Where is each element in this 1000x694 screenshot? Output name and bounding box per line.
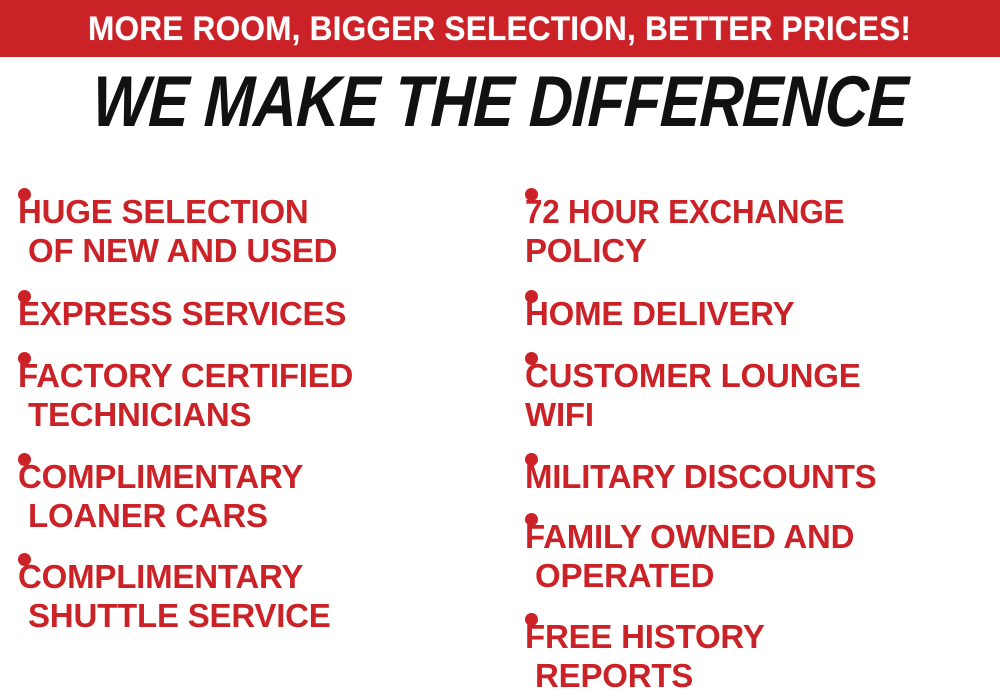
list-item-line: EXPRESS SERVICES xyxy=(18,294,346,333)
list-item-line: LOANER CARS xyxy=(18,496,303,535)
list-item-lines: MILITARY DISCOUNTS xyxy=(525,457,876,496)
bullet-dot-icon xyxy=(18,290,31,303)
headline: WE MAKE THE DIFFERENCE xyxy=(0,66,1000,138)
list-item-lines: HOME DELIVERY xyxy=(525,294,794,333)
list-item-lines: HUGE SELECTION OF NEW AND USED xyxy=(18,192,337,270)
list-item-lines: COMPLIMENTARY LOANER CARS xyxy=(18,457,303,535)
bullet-dot-icon xyxy=(525,352,538,365)
list-item-line: WIFI xyxy=(525,395,861,434)
headline-text: WE MAKE THE DIFFERENCE xyxy=(91,66,909,138)
bullet-dot-icon xyxy=(18,553,31,566)
list-item: MILITARY DISCOUNTS xyxy=(525,439,876,496)
list-item: HUGE SELECTION OF NEW AND USED xyxy=(18,174,337,270)
list-item-line: FACTORY CERTIFIED xyxy=(18,356,353,395)
list-item-line: SHUTTLE SERVICE xyxy=(18,596,331,635)
list-item-line: REPORTS xyxy=(525,656,765,694)
list-item-line: COMPLIMENTARY xyxy=(18,557,331,596)
list-item-line: FREE HISTORY xyxy=(525,617,765,656)
list-item-line: OPERATED xyxy=(525,556,854,595)
top-banner-text: MORE ROOM, BIGGER SELECTION, BETTER PRIC… xyxy=(88,12,911,46)
list-item-lines: FREE HISTORY REPORTS xyxy=(525,617,765,694)
list-item: CUSTOMER LOUNGE WIFI xyxy=(525,338,861,434)
list-item-line: TECHNICIANS xyxy=(18,395,353,434)
list-item-line: HOME DELIVERY xyxy=(525,294,794,333)
list-item-line: OF NEW AND USED xyxy=(18,231,337,270)
list-item: COMPLIMENTARY LOANER CARS xyxy=(18,439,303,535)
list-item-lines: CUSTOMER LOUNGE WIFI xyxy=(525,356,861,434)
list-item-line: 72 HOUR EXCHANGE xyxy=(525,192,844,231)
top-banner: MORE ROOM, BIGGER SELECTION, BETTER PRIC… xyxy=(0,0,1000,57)
bullet-dot-icon xyxy=(525,513,538,526)
list-item-lines: EXPRESS SERVICES xyxy=(18,294,346,333)
list-item-line: FAMILY OWNED AND xyxy=(525,517,854,556)
list-item: COMPLIMENTARY SHUTTLE SERVICE xyxy=(18,539,331,635)
feature-columns: HUGE SELECTION OF NEW AND USED EXPRESS S… xyxy=(0,160,1000,694)
list-item-lines: 72 HOUR EXCHANGE POLICY xyxy=(525,192,861,270)
list-item-line: CUSTOMER LOUNGE xyxy=(525,356,861,395)
list-item: FAMILY OWNED AND OPERATED xyxy=(525,499,854,595)
list-item: 72 HOUR EXCHANGE POLICY xyxy=(525,174,861,270)
list-item: FACTORY CERTIFIED TECHNICIANS xyxy=(18,338,353,434)
list-item-lines: COMPLIMENTARY SHUTTLE SERVICE xyxy=(18,557,331,635)
list-item-line: COMPLIMENTARY xyxy=(18,457,303,496)
list-item-line: MILITARY DISCOUNTS xyxy=(525,457,876,496)
list-item: EXPRESS SERVICES xyxy=(18,276,346,333)
list-item: FREE HISTORY REPORTS xyxy=(525,599,765,694)
list-item-line: POLICY xyxy=(525,231,861,270)
feature-column-left: HUGE SELECTION OF NEW AND USED EXPRESS S… xyxy=(0,160,500,694)
bullet-dot-icon xyxy=(525,290,538,303)
list-item-lines: FAMILY OWNED AND OPERATED xyxy=(525,517,854,595)
bullet-dot-icon xyxy=(18,352,31,365)
bullet-dot-icon xyxy=(525,453,538,466)
feature-column-right: 72 HOUR EXCHANGE POLICY HOME DELIVERY CU… xyxy=(507,160,1000,694)
bullet-dot-icon xyxy=(18,188,31,201)
list-item-line: HUGE SELECTION xyxy=(18,192,337,231)
list-item: HOME DELIVERY xyxy=(525,276,794,333)
bullet-dot-icon xyxy=(18,453,31,466)
bullet-dot-icon xyxy=(525,613,538,626)
list-item-lines: FACTORY CERTIFIED TECHNICIANS xyxy=(18,356,353,434)
promotional-poster: MORE ROOM, BIGGER SELECTION, BETTER PRIC… xyxy=(0,0,1000,694)
